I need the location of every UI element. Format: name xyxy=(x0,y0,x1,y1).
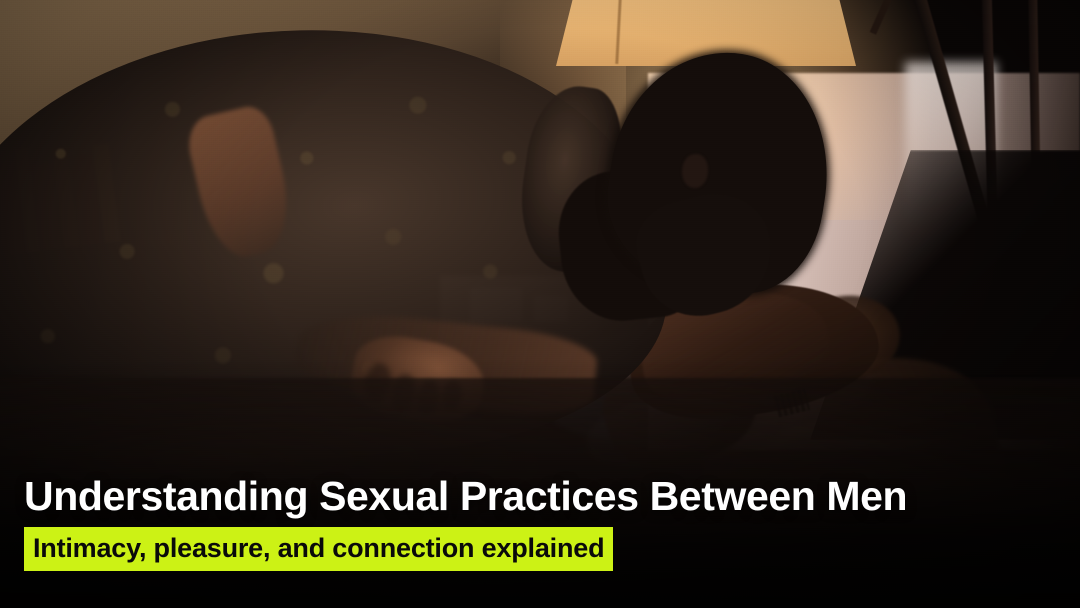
banner-text-overlay: Understanding Sexual Practices Between M… xyxy=(0,476,1080,608)
banner-subtitle: Intimacy, pleasure, and connection expla… xyxy=(24,527,613,571)
standing-figure-ear xyxy=(682,154,708,188)
banner-headline: Understanding Sexual Practices Between M… xyxy=(24,476,1080,517)
banner-subtitle-highlight: Intimacy, pleasure, and connection expla… xyxy=(24,527,613,571)
article-banner: Understanding Sexual Practices Between M… xyxy=(0,0,1080,608)
